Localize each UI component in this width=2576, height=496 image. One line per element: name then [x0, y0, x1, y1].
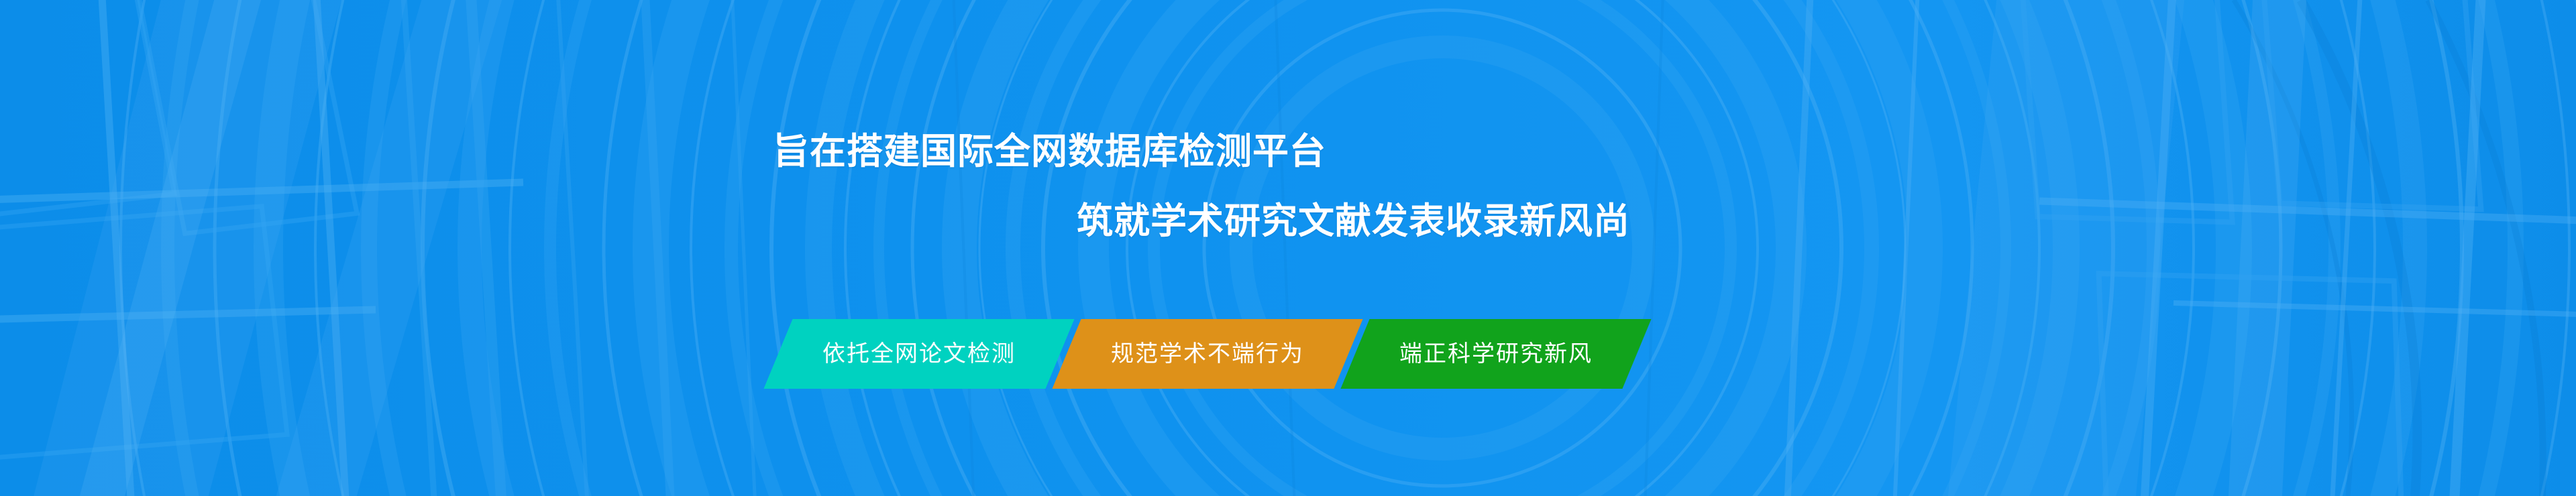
headline-line-1: 旨在搭建国际全网数据库检测平台 — [773, 133, 1326, 170]
headline-line-2: 筑就学术研究文献发表收录新风尚 — [1077, 203, 1630, 239]
feature-tag-strip: 依托全网论文检测 规范学术不端行为 端正科学研究新风 — [778, 319, 1637, 389]
feature-tag-detection[interactable]: 依托全网论文检测 — [763, 319, 1074, 389]
feature-tag-misconduct[interactable]: 规范学术不端行为 — [1052, 319, 1362, 389]
feature-tag-research-ethos-label: 端正科学研究新风 — [1399, 343, 1593, 365]
feature-tag-research-ethos[interactable]: 端正科学研究新风 — [1340, 319, 1651, 389]
feature-tag-detection-label: 依托全网论文检测 — [822, 343, 1016, 365]
feature-tag-misconduct-label: 规范学术不端行为 — [1111, 343, 1304, 365]
banner-content: 旨在搭建国际全网数据库检测平台 筑就学术研究文献发表收录新风尚 依托全网论文检测… — [0, 0, 2576, 496]
promo-banner: 旨在搭建国际全网数据库检测平台 筑就学术研究文献发表收录新风尚 依托全网论文检测… — [0, 0, 2576, 496]
